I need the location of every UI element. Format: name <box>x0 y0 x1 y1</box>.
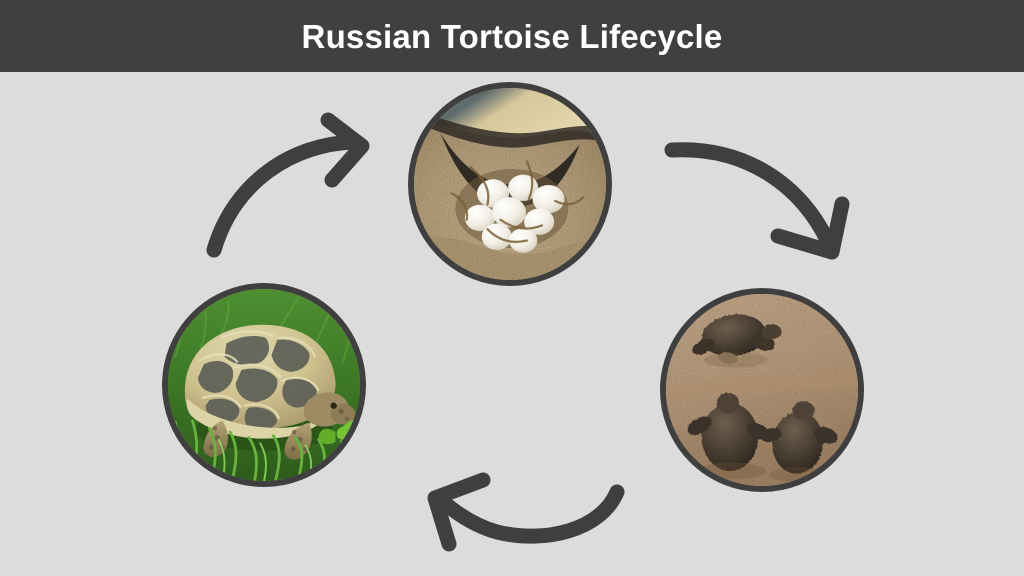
arrow-left-icon <box>405 458 635 553</box>
photo-hatchlings <box>666 294 858 486</box>
arrow-adult-to-eggs <box>196 108 396 268</box>
infographic-canvas: Russian Tortoise Lifecycle <box>0 0 1024 576</box>
page-title: Russian Tortoise Lifecycle <box>302 20 723 53</box>
adult-tortoise-illustration <box>168 289 360 481</box>
arrow-hatchlings-to-adult <box>405 458 635 553</box>
stage-adult-tortoise <box>162 283 366 487</box>
arrow-eggs-to-hatchlings <box>656 128 866 268</box>
photo-eggs-in-nest <box>414 88 606 280</box>
header-bar: Russian Tortoise Lifecycle <box>0 0 1024 72</box>
arrow-up-right-icon <box>196 108 396 268</box>
stage-eggs-in-nest <box>408 82 612 286</box>
eggs-nest-illustration <box>414 88 606 280</box>
arrow-down-right-icon <box>656 128 866 268</box>
hatchlings-illustration <box>666 294 858 486</box>
photo-adult-tortoise <box>168 289 360 481</box>
stage-hatchlings <box>660 288 864 492</box>
